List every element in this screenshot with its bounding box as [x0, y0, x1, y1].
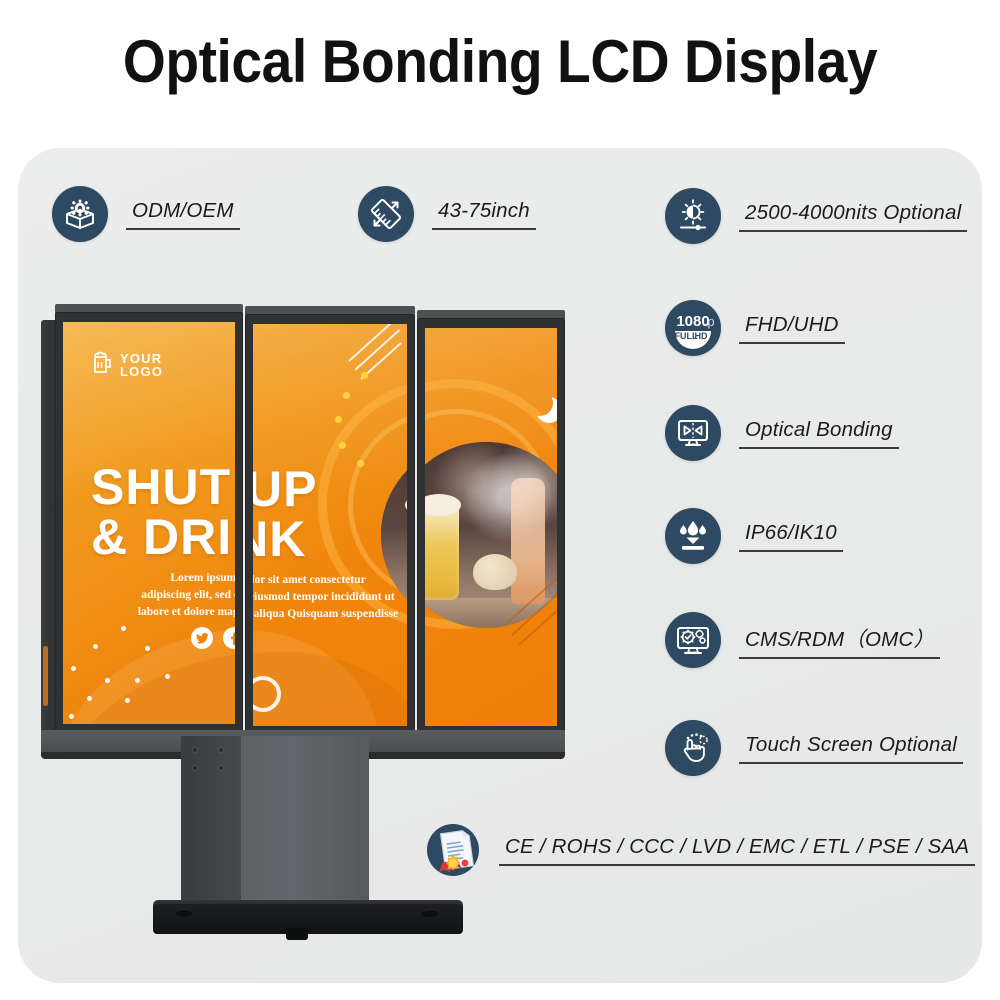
poster-headline: SHUT UP & DRINK [253, 464, 317, 564]
poster-photo-circle [425, 442, 557, 628]
poster-artwork-left: YOUR LOGO SHUT UP & DRINK Lorem ipsum do… [63, 322, 235, 724]
logo-line-1: YOUR [120, 352, 163, 365]
label-underline [739, 762, 963, 763]
feature-label: IP66/IK10 [739, 521, 843, 547]
label-underline [739, 230, 967, 231]
monitor-bonding-icon [665, 405, 721, 461]
label-underline [739, 342, 845, 343]
bottle [511, 478, 545, 604]
feature-screen-size[interactable]: 43-75inch [358, 186, 536, 242]
infographic-page: Optical Bonding LCD Display [0, 0, 1000, 1000]
logo-line-2: LOGO [120, 365, 163, 378]
feature-label: 2500-4000nits Optional [739, 201, 967, 227]
monitor-gears-icon [665, 612, 721, 668]
feature-label: CE / ROHS / CCC / LVD / EMC / ETL / PSE … [499, 835, 975, 861]
feature-label-wrap: ODM/OEM [126, 199, 240, 230]
poster-social-row [191, 627, 235, 649]
label-underline [499, 864, 975, 865]
svg-text:1080: 1080 [676, 313, 709, 330]
screen-middle: SHUT UP & DRINK Lorem ipsum dolor sit am… [253, 324, 407, 726]
feature-label-wrap: FHD/UHD [739, 313, 845, 344]
feature-label-wrap: CE / ROHS / CCC / LVD / EMC / ETL / PSE … [499, 835, 975, 866]
screen-right [425, 328, 557, 726]
waterproof-icon [665, 508, 721, 564]
feature-cms-rdm[interactable]: CMS/RDM（OMC） [665, 612, 940, 668]
beer-glass [425, 504, 459, 600]
feature-odm-oem[interactable]: ODM/OEM [52, 186, 240, 242]
label-underline [739, 550, 843, 551]
feature-label-wrap: 2500-4000nits Optional [739, 201, 967, 232]
feature-label-wrap: IP66/IK10 [739, 521, 843, 552]
stand-base-plate [153, 904, 463, 934]
certificate-icon [425, 822, 481, 878]
headline-line-1: SHUT UP [91, 462, 235, 512]
feature-touch-screen[interactable]: Touch Screen Optional [665, 720, 963, 776]
stand-base-nub [286, 928, 308, 940]
base-bolt-hole-left [175, 909, 193, 917]
label-underline [739, 657, 940, 658]
facebook-icon [223, 627, 235, 649]
label-underline [432, 228, 536, 229]
stand-column-front [181, 736, 241, 914]
feature-certifications[interactable]: CE / ROHS / CCC / LVD / EMC / ETL / PSE … [425, 822, 975, 878]
headline-line-2: & DRINK [91, 512, 235, 562]
feature-label: CMS/RDM（OMC） [739, 622, 940, 654]
display-panel-middle: SHUT UP & DRINK Lorem ipsum dolor sit am… [245, 314, 415, 736]
body-line-2: adipiscing elit, sed do eiusmod tempor i… [103, 587, 235, 604]
poster-artwork-right [425, 328, 557, 726]
feature-label-wrap: Optical Bonding [739, 418, 899, 449]
page-title: Optical Bonding LCD Display [40, 26, 960, 98]
feature-label-wrap: Touch Screen Optional [739, 733, 963, 764]
feature-resolution[interactable]: 1080 p FULL HD FHD/UHD [665, 300, 845, 356]
headline-line-2: & DRINK [253, 514, 317, 564]
feature-optical-bonding[interactable]: Optical Bonding [665, 405, 899, 461]
feature-ingress-protection[interactable]: IP66/IK10 [665, 508, 843, 564]
svg-text:p: p [707, 314, 714, 329]
headline-line-1: SHUT UP [253, 464, 317, 514]
ruler-icon [358, 186, 414, 242]
poster-moon-icon [527, 390, 553, 416]
feature-label: Optical Bonding [739, 418, 899, 444]
poster-headline: SHUT UP & DRINK [91, 462, 235, 562]
poster-artwork-middle: SHUT UP & DRINK Lorem ipsum dolor sit am… [253, 324, 407, 726]
poster-logo: YOUR LOGO [93, 350, 163, 379]
beer-mug-icon [93, 350, 113, 379]
label-underline [126, 228, 240, 229]
touch-hand-icon [665, 720, 721, 776]
screen-left: YOUR LOGO SHUT UP & DRINK Lorem ipsum do… [63, 322, 235, 724]
display-panel-left: YOUR LOGO SHUT UP & DRINK Lorem ipsum do… [55, 312, 243, 734]
feature-label: ODM/OEM [126, 199, 240, 225]
body-line-3: labore et dolore magna aliqua Quisquam s… [103, 604, 235, 621]
feature-label-wrap: CMS/RDM（OMC） [739, 622, 940, 659]
nuts-bowl [473, 554, 517, 590]
gear-box-icon [52, 186, 108, 242]
display-panel-right [417, 318, 565, 736]
feature-label: FHD/UHD [739, 313, 845, 339]
label-underline [739, 447, 899, 448]
poster-body-text: Lorem ipsum dolor sit amet consectetur a… [103, 570, 235, 621]
feature-brightness[interactable]: 2500-4000nits Optional [665, 188, 967, 244]
poster-logo-text: YOUR LOGO [120, 352, 163, 378]
body-line-1: Lorem ipsum dolor sit amet consectetur [103, 570, 235, 587]
feature-label-wrap: 43-75inch [432, 199, 536, 230]
feature-label: 43-75inch [432, 199, 536, 225]
feature-label: Touch Screen Optional [739, 733, 963, 759]
svg-text:HD: HD [695, 331, 708, 341]
twitter-icon [191, 627, 213, 649]
brightness-icon [665, 188, 721, 244]
poster-photo-circle [381, 442, 407, 628]
display-side-glow [43, 646, 48, 706]
fullhd-badge-icon: 1080 p FULL HD [665, 300, 721, 356]
base-bolt-hole-right [421, 909, 439, 917]
